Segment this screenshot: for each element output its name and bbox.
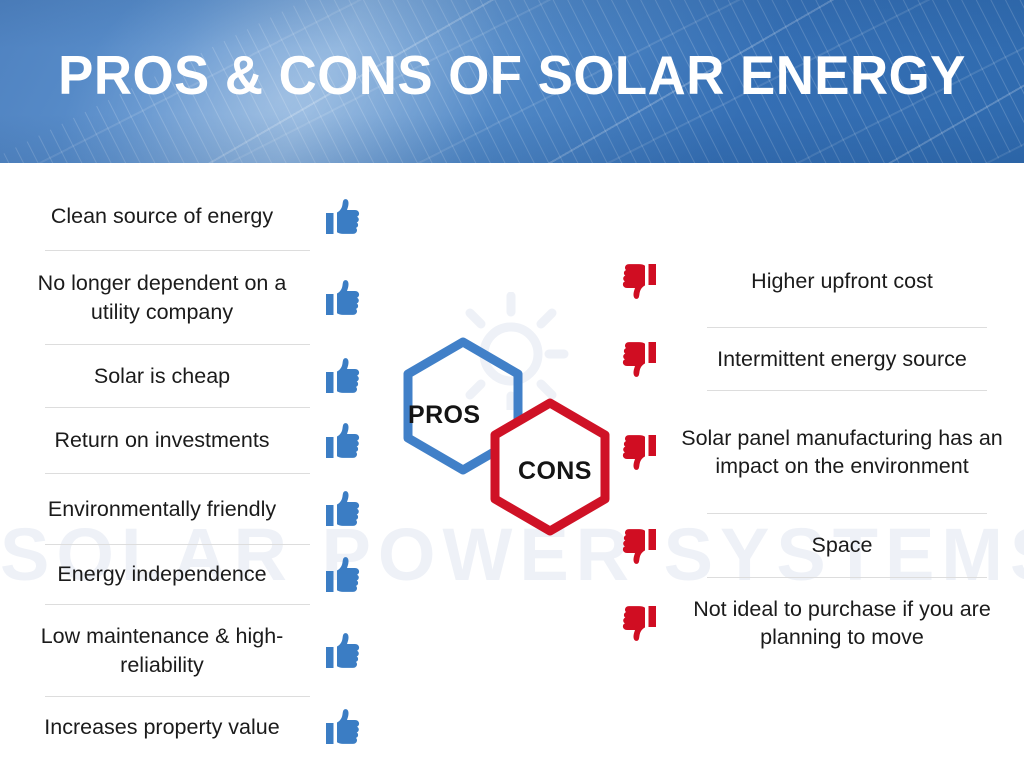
pros-item-label: Solar is cheap: [12, 362, 322, 390]
thumbs-down-icon: [622, 261, 656, 301]
thumbs-up-icon: [326, 278, 360, 318]
cons-item-label: Space: [662, 531, 1014, 559]
thumbs-up-icon: [326, 707, 360, 747]
cons-badge-label: CONS: [518, 457, 592, 486]
pros-item-label: No longer dependent on a utility company: [12, 269, 322, 326]
thumbs-down-icon: [622, 603, 656, 643]
list-item[interactable]: Return on investments: [12, 408, 360, 473]
list-item[interactable]: Low maintenance & high-reliability: [12, 605, 360, 696]
list-item[interactable]: Space: [622, 514, 1014, 577]
list-item[interactable]: Intermittent energy source: [622, 328, 1014, 390]
pros-list: Clean source of energyNo longer dependen…: [12, 183, 360, 757]
pros-item-label: Return on investments: [12, 426, 322, 454]
thumbs-up-icon: [326, 197, 360, 237]
center-badges: PROS CONS: [378, 318, 648, 553]
cons-item-label: Intermittent energy source: [662, 345, 1014, 373]
list-item[interactable]: Higher upfront cost: [622, 235, 1014, 327]
pros-item-label: Energy independence: [12, 560, 322, 588]
hexagon-outlines: [378, 318, 648, 553]
thumbs-up-icon: [326, 555, 360, 595]
thumbs-up-icon: [326, 421, 360, 461]
list-item[interactable]: Clean source of energy: [12, 183, 360, 250]
page-header: PROS & CONS OF SOLAR ENERGY: [0, 0, 1024, 163]
pros-item-label: Increases property value: [12, 713, 322, 741]
pros-item-label: Clean source of energy: [12, 202, 322, 230]
list-item[interactable]: Environmentally friendly: [12, 474, 360, 544]
cons-item-label: Not ideal to purchase if you are plannin…: [662, 595, 1014, 652]
thumbs-up-icon: [326, 631, 360, 671]
cons-list: Higher upfront costIntermittent energy s…: [622, 235, 1014, 668]
list-item[interactable]: Solar is cheap: [12, 345, 360, 407]
thumbs-up-icon: [326, 356, 360, 396]
list-item[interactable]: Not ideal to purchase if you are plannin…: [622, 578, 1014, 668]
list-item[interactable]: Increases property value: [12, 697, 360, 757]
list-item[interactable]: Solar panel manufacturing has an impact …: [622, 391, 1014, 513]
page-title: PROS & CONS OF SOLAR ENERGY: [20, 48, 1003, 103]
cons-item-label: Higher upfront cost: [662, 267, 1014, 295]
thumbs-up-icon: [326, 489, 360, 529]
cons-item-label: Solar panel manufacturing has an impact …: [662, 424, 1014, 481]
pros-item-label: Environmentally friendly: [12, 495, 322, 523]
list-item[interactable]: No longer dependent on a utility company: [12, 251, 360, 344]
pros-item-label: Low maintenance & high-reliability: [12, 622, 322, 679]
pros-badge-label: PROS: [408, 401, 480, 430]
list-item[interactable]: Energy independence: [12, 545, 360, 604]
